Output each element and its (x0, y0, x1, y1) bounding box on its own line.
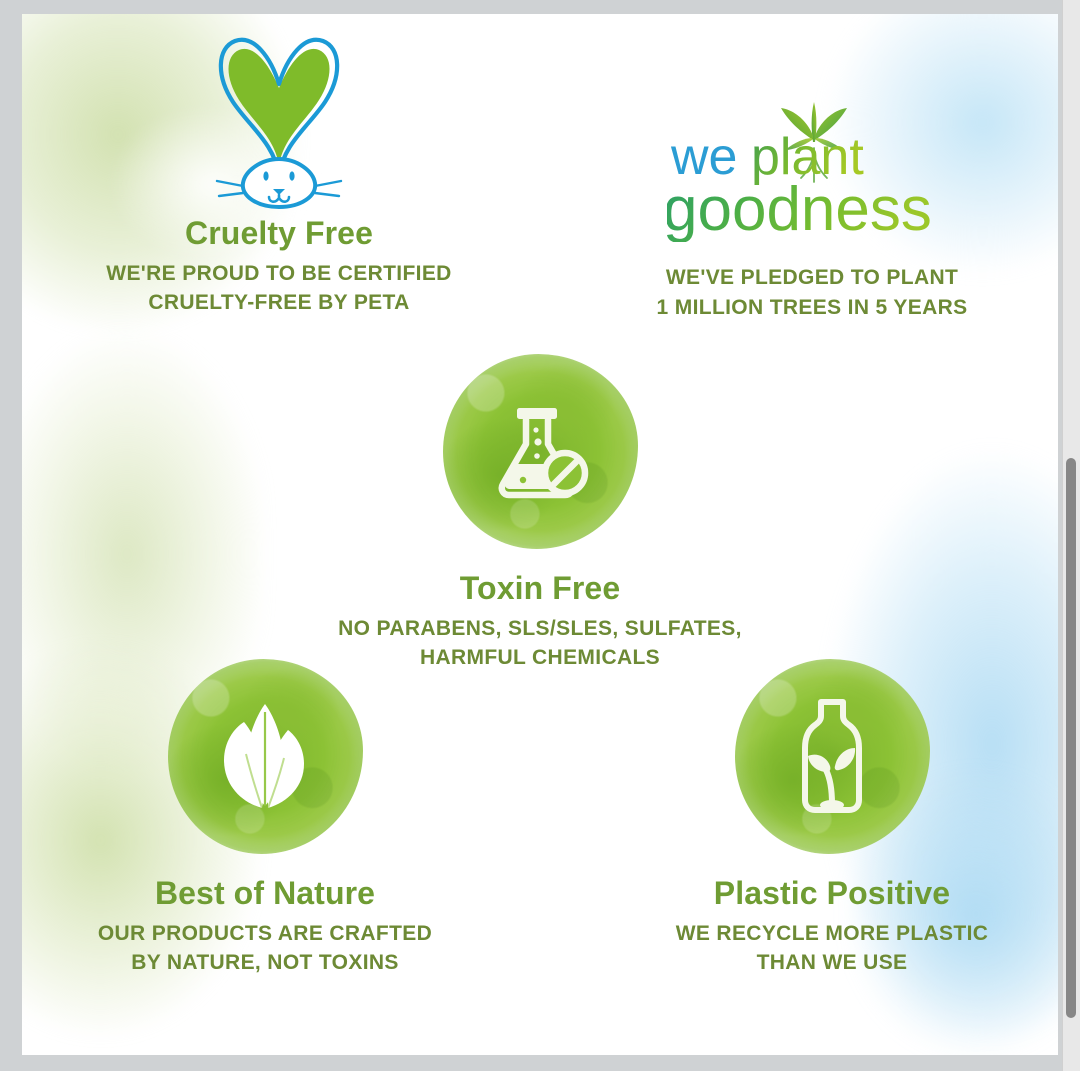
badge-subtitle-plastic-positive: WE RECYCLE MORE PLASTIC THAN WE USE (597, 919, 1058, 979)
subtitle-line: WE'VE PLEDGED TO PLANT (666, 266, 958, 289)
subtitle-line: OUR PRODUCTS ARE CRAFTED (98, 922, 432, 945)
subtitle-line: CRUELTY-FREE BY PETA (148, 291, 409, 314)
subtitle-line: WE'RE PROUD TO BE CERTIFIED (106, 262, 451, 285)
subtitle-line: BY NATURE, NOT TOXINS (131, 951, 399, 974)
badge-best-of-nature: Best of Nature OUR PRODUCTS ARE CRAFTED … (30, 659, 500, 978)
badge-toxin-free: Toxin Free No PARABENS, SLS/SLES, SULFAT… (305, 354, 775, 673)
best-of-nature-icon-circle (168, 659, 363, 854)
logo-word-goodness: goodness (667, 175, 932, 242)
brand-values-image: Cruelty Free WE'RE PROUD TO BE CERTIFIED… (22, 14, 1058, 1055)
subtitle-line: No PARABENS, SLS/SLES, SULFATES, (338, 617, 742, 640)
badge-subtitle-cruelty-free: WE'RE PROUD TO BE CERTIFIED CRUELTY-FREE… (44, 259, 514, 319)
plastic-positive-icon-circle (735, 659, 930, 854)
we-plant-goodness-logo: we plant goodness (667, 92, 957, 242)
page-root: Cruelty Free WE'RE PROUD TO BE CERTIFIED… (0, 0, 1080, 1071)
subtitle-line: WE RECYCLE MORE PLASTIC (676, 922, 989, 945)
three-leaves-icon (210, 698, 320, 816)
subtitle-line: THAN WE USE (757, 951, 908, 974)
bottle-sprout-icon (777, 694, 887, 820)
badge-title-best-of-nature: Best of Nature (30, 876, 500, 911)
badge-title-toxin-free: Toxin Free (305, 571, 775, 606)
page-scrollbar-thumb[interactable] (1066, 458, 1076, 1018)
badge-we-plant-goodness: we plant goodness WE'VE PLEDGED TO PLANT… (592, 92, 1032, 323)
page-scrollbar-track[interactable] (1062, 0, 1080, 1071)
bunny-heart-icon (199, 26, 359, 211)
badge-title-plastic-positive: Plastic Positive (597, 876, 1058, 911)
subtitle-line: 1 MILLION TREES IN 5 YEARS (657, 296, 968, 319)
badge-subtitle-we-plant-goodness: WE'VE PLEDGED TO PLANT 1 MILLION TREES I… (592, 263, 1032, 323)
badge-title-cruelty-free: Cruelty Free (44, 216, 514, 251)
badge-plastic-positive: Plastic Positive WE RECYCLE MORE PLASTIC… (597, 659, 1058, 978)
flask-no-entry-icon (480, 392, 600, 512)
toxin-free-icon-circle (443, 354, 638, 549)
badge-subtitle-best-of-nature: OUR PRODUCTS ARE CRAFTED BY NATURE, NOT … (30, 919, 500, 979)
badge-cruelty-free: Cruelty Free WE'RE PROUD TO BE CERTIFIED… (44, 26, 514, 318)
